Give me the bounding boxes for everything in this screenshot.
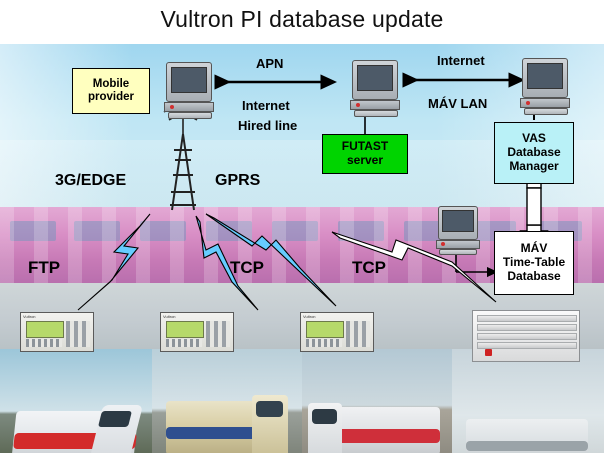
label-hired-line: Hired line [238, 118, 297, 133]
slide-root: Vultron PI database update [0, 0, 604, 453]
label-apn: APN [256, 56, 283, 71]
photo-strip [0, 349, 604, 453]
label-tcp-mid: TCP [230, 258, 264, 278]
server-rack-icon [472, 310, 580, 362]
pc-right [518, 58, 574, 116]
photo-diesel-train [152, 349, 302, 453]
onboard-unit-3: Vultron [300, 312, 374, 352]
label-internet-left: Internet [242, 98, 290, 113]
pc-mid [348, 60, 404, 118]
box-futast-server[interactable]: FUTAST server [322, 134, 408, 174]
label-gprs: GPRS [215, 172, 260, 190]
pc-left [162, 62, 218, 120]
box-mav-timetable-database[interactable]: MÁV Time-Table Database [494, 231, 574, 295]
onboard-unit-2-caption: Vultron [163, 314, 233, 320]
label-3g-edge: 3G/EDGE [55, 172, 126, 190]
photo-server-room [452, 349, 604, 453]
label-ftp: FTP [28, 258, 60, 278]
onboard-unit-1: Vultron [20, 312, 94, 352]
label-mav-lan: MÁV LAN [428, 96, 487, 111]
pc-timetable [434, 206, 482, 256]
box-vas-database-manager[interactable]: VAS Database Manager [494, 122, 574, 184]
label-tcp-right: TCP [352, 258, 386, 278]
onboard-unit-3-caption: Vultron [303, 314, 373, 320]
box-mav-timetable-database-label: MÁV Time-Table Database [503, 242, 565, 283]
onboard-unit-1-caption: Vultron [23, 314, 93, 320]
page-title: Vultron PI database update [0, 6, 604, 33]
onboard-unit-2: Vultron [160, 312, 234, 352]
box-vas-database-manager-label: VAS Database Manager [507, 132, 560, 173]
photo-railcar-station [302, 349, 452, 453]
box-mobile-provider-label: Mobile provider [88, 78, 134, 104]
photo-flirt-train [0, 349, 152, 453]
box-futast-server-label: FUTAST server [342, 140, 388, 168]
box-mobile-provider[interactable]: Mobile provider [72, 68, 150, 114]
label-internet-right: Internet [437, 53, 485, 68]
